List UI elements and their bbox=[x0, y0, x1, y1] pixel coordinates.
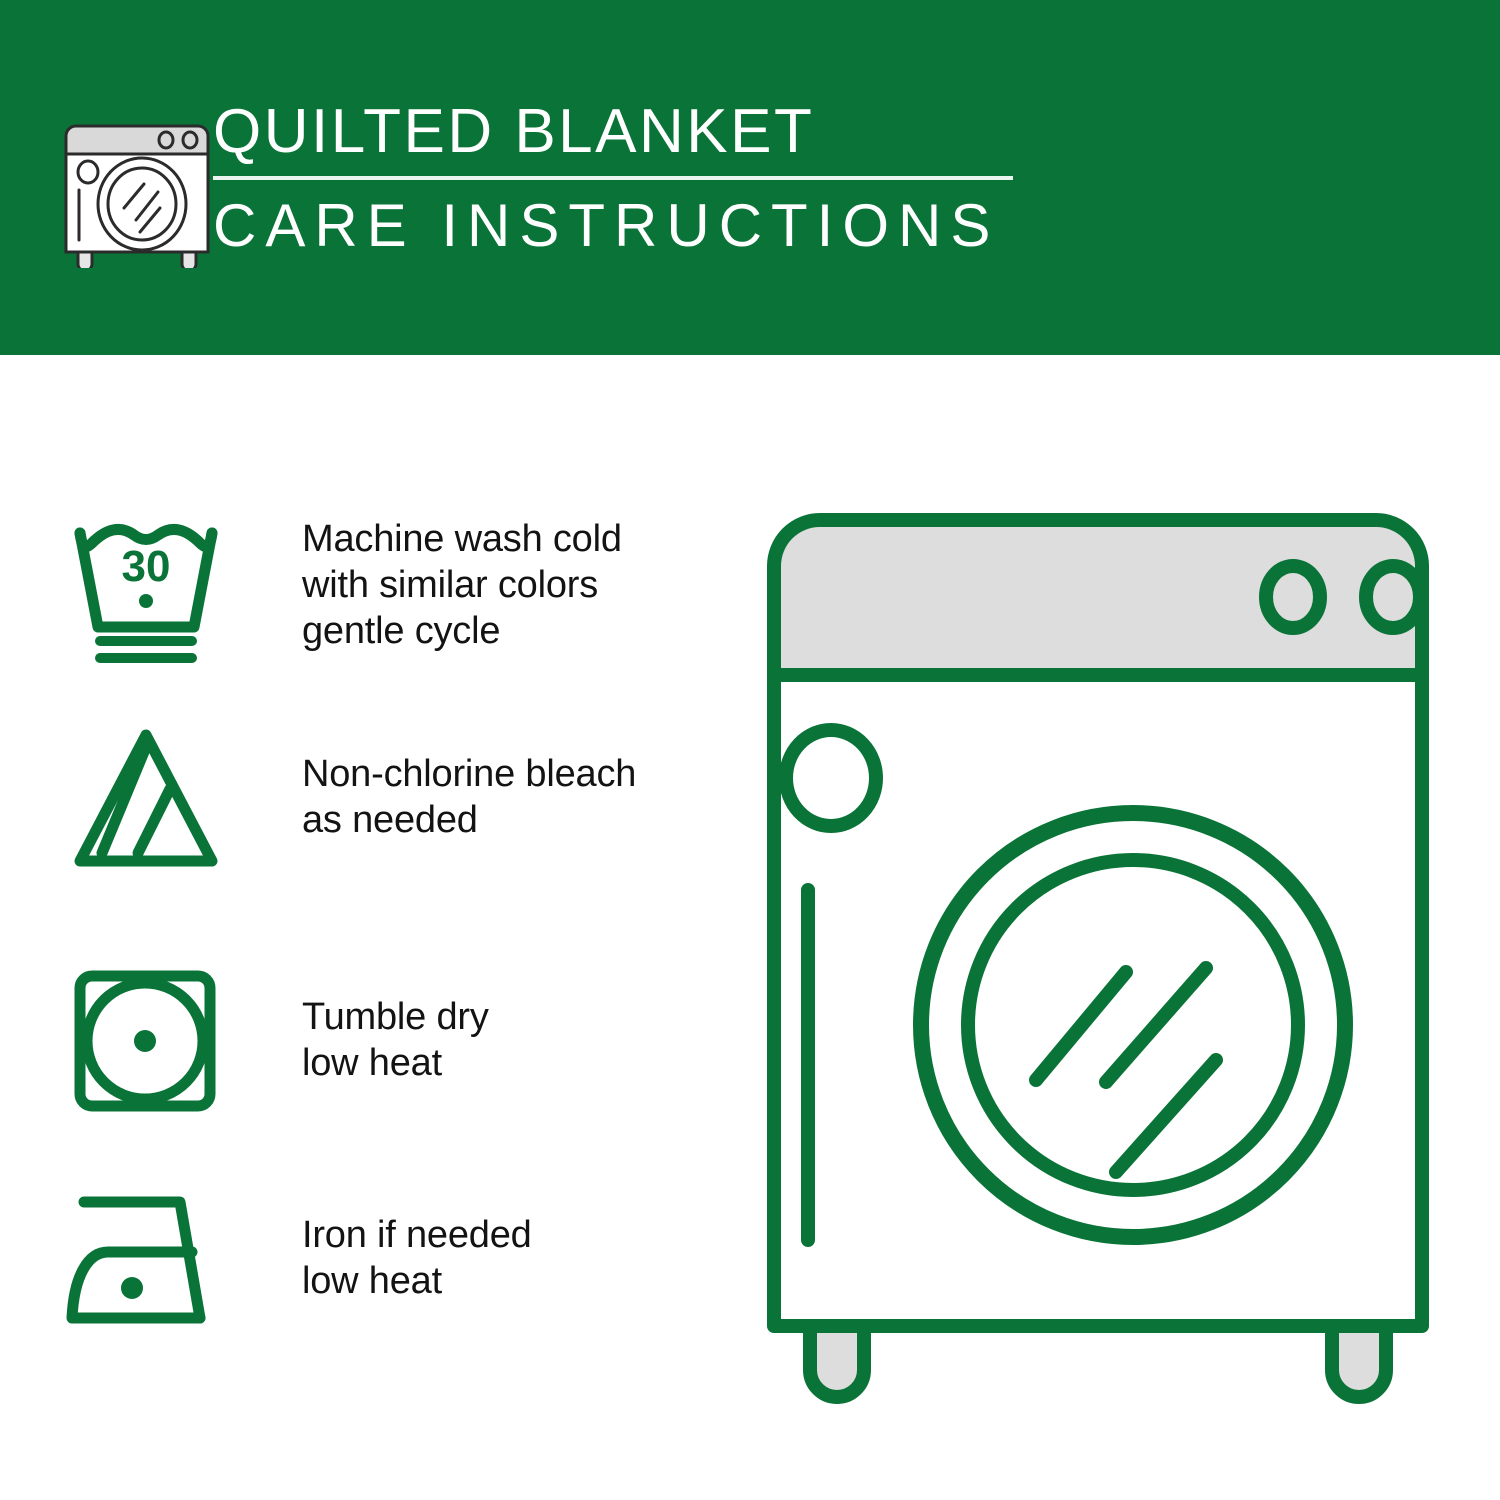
page-title: QUILTED BLANKET bbox=[213, 96, 1033, 168]
non-chlorine-bleach-triangle-icon bbox=[62, 717, 237, 877]
tumble-dry-low-heat-icon bbox=[62, 960, 237, 1120]
care-label-bleach: Non-chlorine bleach as needed bbox=[302, 751, 636, 843]
header-text-block: QUILTED BLANKET CARE INSTRUCTIONS bbox=[213, 96, 1033, 260]
iron-low-heat-icon bbox=[62, 1178, 237, 1338]
front-load-washing-machine-illustration bbox=[748, 500, 1448, 1420]
washer-leg bbox=[1332, 1326, 1386, 1397]
care-label-tumble-dry: Tumble dry low heat bbox=[302, 994, 489, 1086]
wash-temperature-value: 30 bbox=[122, 542, 171, 591]
drum-outer-ring bbox=[921, 813, 1345, 1237]
drum-inner-ring bbox=[968, 860, 1298, 1190]
washer-leg bbox=[810, 1326, 864, 1397]
care-instructions-infographic: QUILTED BLANKET CARE INSTRUCTIONS 30 bbox=[0, 0, 1500, 1500]
care-row-bleach: Non-chlorine bleach as needed bbox=[62, 717, 636, 877]
care-label-iron: Iron if needed low heat bbox=[302, 1212, 532, 1304]
care-row-tumble-dry: Tumble dry low heat bbox=[62, 960, 489, 1120]
care-label-machine-wash: Machine wash cold with similar colors ge… bbox=[302, 516, 622, 654]
page-subtitle: CARE INSTRUCTIONS bbox=[213, 192, 1033, 260]
washing-machine-logo-icon bbox=[62, 108, 212, 268]
detergent-port-icon bbox=[786, 730, 876, 826]
care-row-iron: Iron if needed low heat bbox=[62, 1178, 532, 1338]
care-row-machine-wash: 30 Machine wash cold with similar colors… bbox=[62, 505, 622, 665]
wash-tub-30-gentle-icon: 30 bbox=[62, 505, 237, 665]
title-divider bbox=[213, 176, 1013, 180]
header-banner: QUILTED BLANKET CARE INSTRUCTIONS bbox=[0, 0, 1500, 355]
